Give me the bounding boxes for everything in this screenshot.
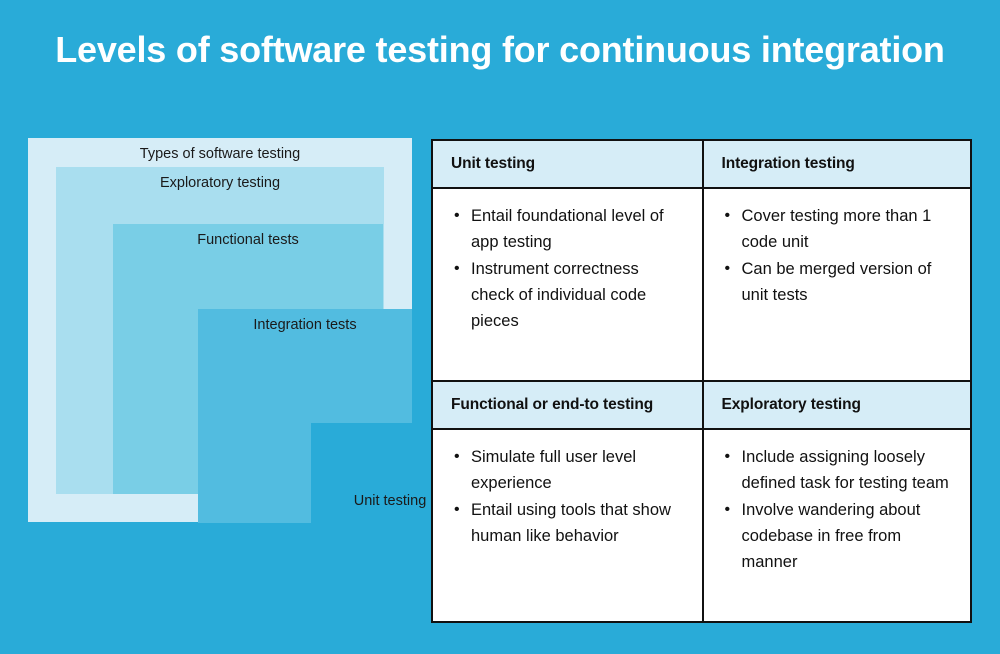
table-cell-body: Include assigning loosely defined task f…	[704, 430, 971, 621]
list-item: Entail foundational level of app testing	[449, 203, 686, 255]
table-row: Functional or end-to testing Simulate fu…	[433, 380, 970, 621]
list-item: Involve wandering about codebase in free…	[720, 497, 955, 575]
list-item: Entail using tools that show human like …	[449, 497, 686, 549]
list-item: Include assigning loosely defined task f…	[720, 444, 955, 496]
list-item: Instrument correctness check of individu…	[449, 256, 686, 334]
testing-levels-table: Unit testing Entail foundational level o…	[431, 139, 972, 623]
bullet-list: Cover testing more than 1 code unit Can …	[720, 203, 955, 308]
table-cell-body: Entail foundational level of app testing…	[433, 189, 702, 380]
table-cell-integration-testing: Integration testing Cover testing more t…	[702, 141, 971, 380]
table-cell-functional-testing: Functional or end-to testing Simulate fu…	[433, 382, 702, 621]
table-cell-header-text: Unit testing	[451, 155, 535, 173]
list-item: Cover testing more than 1 code unit	[720, 203, 955, 255]
table-cell-header: Functional or end-to testing	[433, 382, 702, 430]
table-cell-header: Exploratory testing	[704, 382, 971, 430]
table-cell-body: Cover testing more than 1 code unit Can …	[704, 189, 971, 380]
bullet-list: Simulate full user level experience Enta…	[449, 444, 686, 549]
table-cell-header-text: Functional or end-to testing	[451, 396, 653, 414]
bullet-list: Entail foundational level of app testing…	[449, 203, 686, 334]
table-cell-header-text: Integration testing	[722, 155, 855, 173]
bullet-list: Include assigning loosely defined task f…	[720, 444, 955, 575]
diagram-layer-label: Integration tests	[198, 309, 412, 334]
list-item: Simulate full user level experience	[449, 444, 686, 496]
diagram-layer-functional-tests: Functional tests Integration tests Unit …	[113, 224, 383, 494]
table-row: Unit testing Entail foundational level o…	[433, 141, 970, 380]
table-cell-header: Unit testing	[433, 141, 702, 189]
page-title: Levels of software testing for continuou…	[0, 30, 1000, 69]
diagram-layer-integration-tests: Integration tests Unit testing	[198, 309, 412, 523]
diagram-layer-label: Types of software testing	[28, 138, 412, 163]
diagram-layer-exploratory-testing: Exploratory testing Functional tests Int…	[56, 167, 384, 494]
nested-testing-levels-diagram: Types of software testing Exploratory te…	[28, 138, 412, 522]
diagram-layer-label: Functional tests	[113, 224, 383, 249]
table-cell-header: Integration testing	[704, 141, 971, 189]
diagram-layer-label: Exploratory testing	[56, 167, 384, 192]
table-cell-header-text: Exploratory testing	[722, 396, 861, 414]
list-item: Can be merged version of unit tests	[720, 256, 955, 308]
table-cell-exploratory-testing: Exploratory testing Include assigning lo…	[702, 382, 971, 621]
diagram-layer-types-of-software-testing: Types of software testing Exploratory te…	[28, 138, 412, 522]
table-cell-unit-testing: Unit testing Entail foundational level o…	[433, 141, 702, 380]
table-cell-body: Simulate full user level experience Enta…	[433, 430, 702, 621]
